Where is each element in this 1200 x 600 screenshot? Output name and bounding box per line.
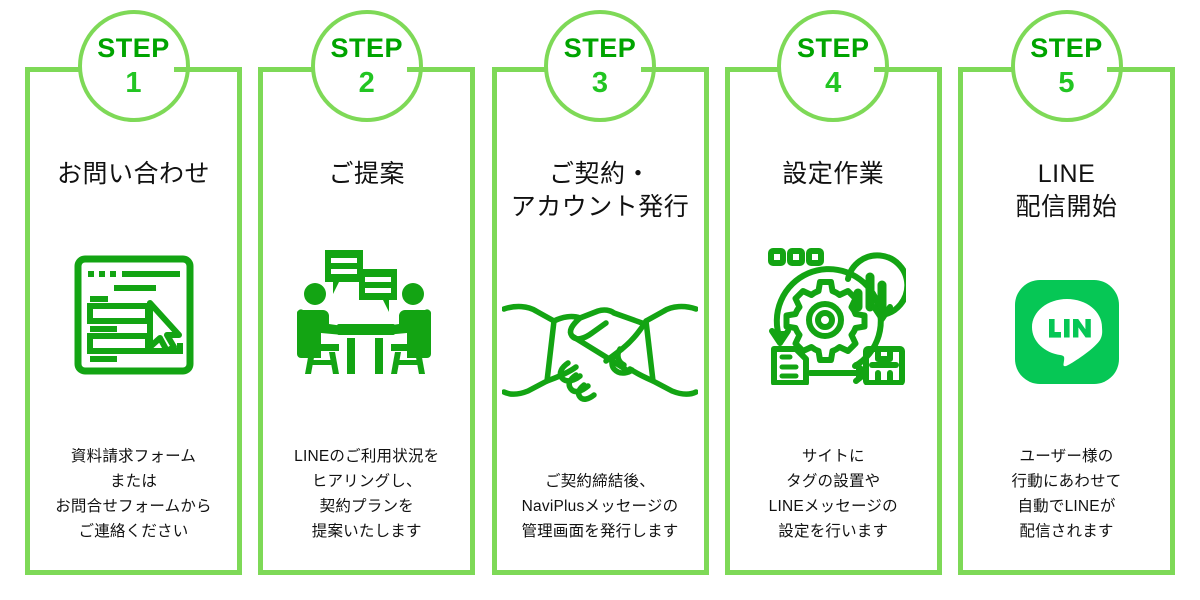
step-flow-diagram: STEP 1 お問い合わせ <box>0 0 1200 600</box>
step-badge-word: STEP <box>1030 35 1103 62</box>
gear-settings-workflow-icon <box>760 245 906 385</box>
step-card-1: STEP 1 お問い合わせ <box>25 72 242 575</box>
step-badge-5: STEP 5 <box>1011 10 1123 122</box>
step-badge-number: 3 <box>592 69 608 98</box>
step-badge-1: STEP 1 <box>78 10 190 122</box>
step-title-3: ご契約・ アカウント発行 <box>511 158 690 225</box>
step-icon-2 <box>263 191 470 443</box>
step-card-4: STEP 4 設定作業 <box>725 72 942 575</box>
step-badge-number: 4 <box>825 69 841 98</box>
step-description-2: LINEのご利用状況を ヒアリングし、 契約プランを 提案いたします <box>294 444 439 570</box>
meeting-discussion-icon <box>297 248 437 383</box>
step-badge-2: STEP 2 <box>311 10 423 122</box>
step-badge-word: STEP <box>564 35 637 62</box>
step-description-4: サイトに タグの設置や LINEメッセージの 設定を行います <box>769 444 898 570</box>
line-speech-bubble-icon <box>1025 290 1109 374</box>
step-icon-3 <box>497 225 704 469</box>
step-card-5: STEP 5 LINE 配信開始 <box>958 72 1175 575</box>
step-description-1: 資料請求フォーム または お問合せフォームから ご連絡ください <box>55 444 212 570</box>
step-icon-5 <box>963 225 1170 444</box>
step-badge-word: STEP <box>797 35 870 62</box>
step-badge-word: STEP <box>330 35 403 62</box>
step-title-2: ご提案 <box>328 158 405 191</box>
step-title-5: LINE 配信開始 <box>1015 158 1117 225</box>
handshake-icon <box>502 285 698 405</box>
step-badge-word: STEP <box>97 35 170 62</box>
step-badge-number: 5 <box>1058 69 1074 98</box>
step-badge-number: 1 <box>125 69 141 98</box>
step-title-4: 設定作業 <box>782 158 884 191</box>
step-badge-3: STEP 3 <box>544 10 656 122</box>
step-badge-4: STEP 4 <box>777 10 889 122</box>
web-form-cursor-icon <box>70 251 198 379</box>
step-card-3: STEP 3 ご契約・ アカウント発行 <box>492 72 709 575</box>
step-description-5: ユーザー様の 行動にあわせて 自動でLINEが 配信されます <box>1012 444 1122 570</box>
step-icon-4 <box>730 191 937 443</box>
step-description-3: ご契約締結後、 NaviPlusメッセージの 管理画面を発行します <box>521 469 678 570</box>
step-icon-1 <box>30 191 237 443</box>
line-app-logo-icon <box>1015 280 1119 384</box>
step-title-1: お問い合わせ <box>57 158 210 191</box>
step-badge-number: 2 <box>359 69 375 98</box>
step-card-2: STEP 2 ご提案 <box>258 72 475 575</box>
